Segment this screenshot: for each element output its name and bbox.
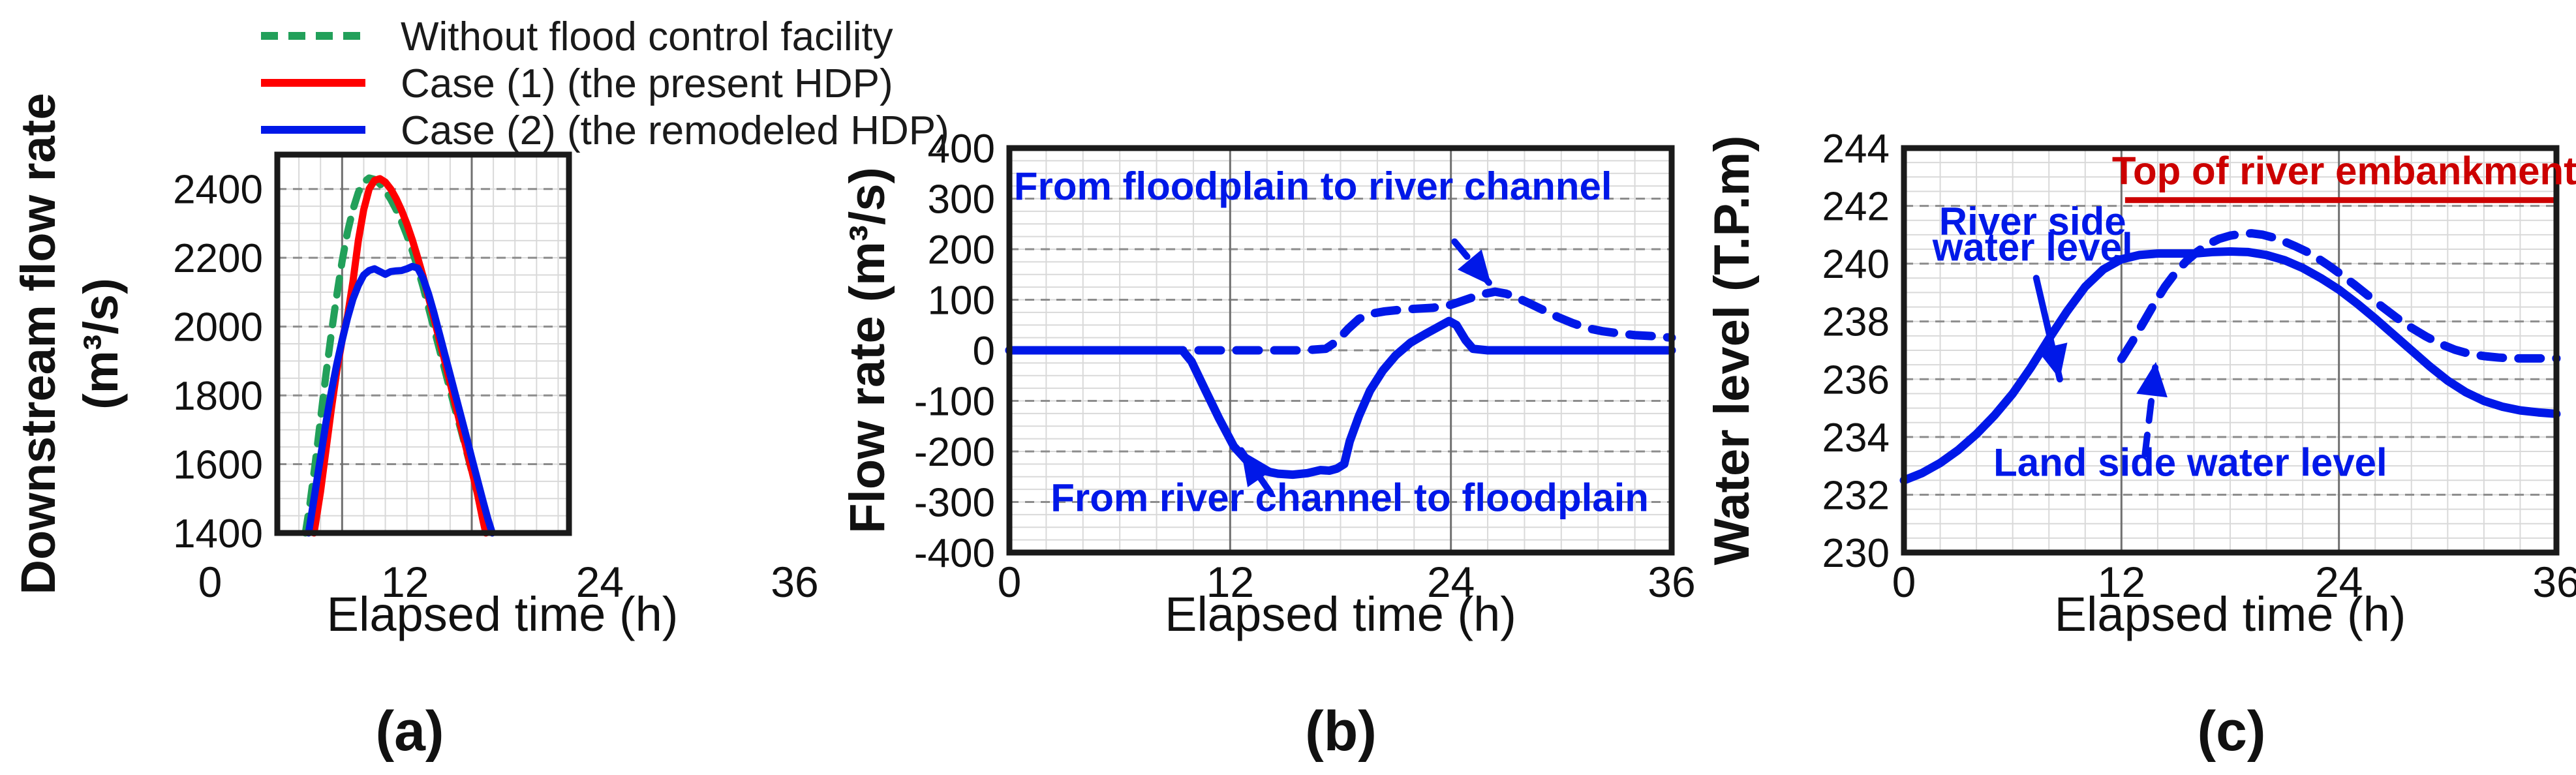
panel-b-y-tick-label: -400 [914,531,995,576]
panel-c-y-tick-label: 240 [1822,242,1890,287]
panel-c-x-tick-label: 36 [2532,558,2576,606]
panel-b-x-tick-label: 0 [998,558,1022,606]
panel-c-y-tick-label: 238 [1822,300,1890,345]
panel-a-y-tick-label: 1800 [173,374,263,419]
panel-a-x-axis-title: Elapsed time (h) [327,587,679,641]
panel-b-y-tick-label: 200 [928,228,995,273]
panel-b-y-tick-label: 100 [928,279,995,324]
panel-b-y-axis-title-text: Flow rate (m³/s) [840,167,895,534]
panel-a-x-tick-label: 36 [771,558,818,606]
panel-b-y-axis-ticks: -400-300-200-1000100200300400 [914,127,995,576]
panel-c-annotation-3: Land side water level [1993,441,2387,485]
panel-b-y-tick-label: 300 [928,177,995,222]
panel-a-y-tick-label: 2000 [173,305,263,350]
legend-label-1: Case (1) (the present HDP) [401,61,893,106]
panel-c-annotation-0: Top of river embankment [2112,149,2576,192]
panel-c-y-axis-title-text: Water level (T.P.m) [1704,136,1760,566]
panel-c-x-axis-title: Elapsed time (h) [2055,587,2406,641]
panel-caption-panel-a: (a) [375,700,444,763]
panel-a-y-axis-title-line2: (m³/s) [74,278,128,409]
panel-a-x-tick-label: 0 [198,558,222,606]
three-panel-chart-figure: 1400160018002000220024000122436Elapsed t… [0,0,2576,775]
panel-c-y-tick-label: 230 [1822,531,1890,576]
panel-a-y-tick-label: 2400 [173,168,263,213]
panel-c-y-tick-label: 234 [1822,416,1890,461]
panel-c-y-axis-title: Water level (T.P.m) [1704,136,1760,566]
legend: Without flood control facilityCase (1) (… [261,14,949,153]
panel-b-annotation-1: From river channel to floodplain [1050,476,1649,519]
panel-b-y-axis-title: Flow rate (m³/s) [840,167,895,534]
panel-c-group: 2302322342362382402422440122436Elapsed t… [1704,127,2576,641]
legend-label-0: Without flood control facility [401,14,893,59]
panel-c-y-tick-label: 244 [1822,127,1890,172]
panel-a-y-tick-label: 1400 [173,511,263,556]
panel-caption-panel-c: (c) [2197,700,2265,763]
panel-b-y-tick-label: 0 [973,329,995,374]
panel-a-y-tick-label: 1600 [173,443,263,488]
panel-b-x-tick-label: 36 [1648,558,1695,606]
panel-b-y-tick-label: -100 [914,380,995,425]
panel-a-y-axis-ticks: 140016001800200022002400 [173,168,263,556]
panel-c-x-tick-label: 0 [1892,558,1916,606]
panel-a-group: 1400160018002000220024000122436Elapsed t… [11,93,819,641]
panel-b-group: -400-300-200-10001002003004000122436Elap… [840,127,1696,641]
panel-c-y-axis-ticks: 230232234236238240242244 [1822,127,1890,576]
panel-b-y-tick-label: -300 [914,481,995,526]
panel-c-y-tick-label: 242 [1822,185,1890,230]
panel-caption-panel-b: (b) [1305,700,1377,763]
panel-a-y-axis-title-line1: Downstream flow rate [11,93,65,595]
panel-c-y-tick-label: 232 [1822,473,1890,518]
panel-c-y-tick-label: 236 [1822,357,1890,403]
figure-container: 1400160018002000220024000122436Elapsed t… [0,0,2576,775]
panel-a-y-axis-title: Downstream flow rate(m³/s) [11,93,128,595]
panel-b-y-tick-label: -200 [914,430,995,475]
panel-b-x-axis-title: Elapsed time (h) [1165,587,1516,641]
legend-label-2: Case (2) (the remodeled HDP) [401,108,949,153]
panel-c-annotation-2: water level [1932,226,2133,269]
panel-b-annotation-0: From floodplain to river channel [1014,164,1612,208]
panel-a-y-tick-label: 2200 [173,236,263,281]
